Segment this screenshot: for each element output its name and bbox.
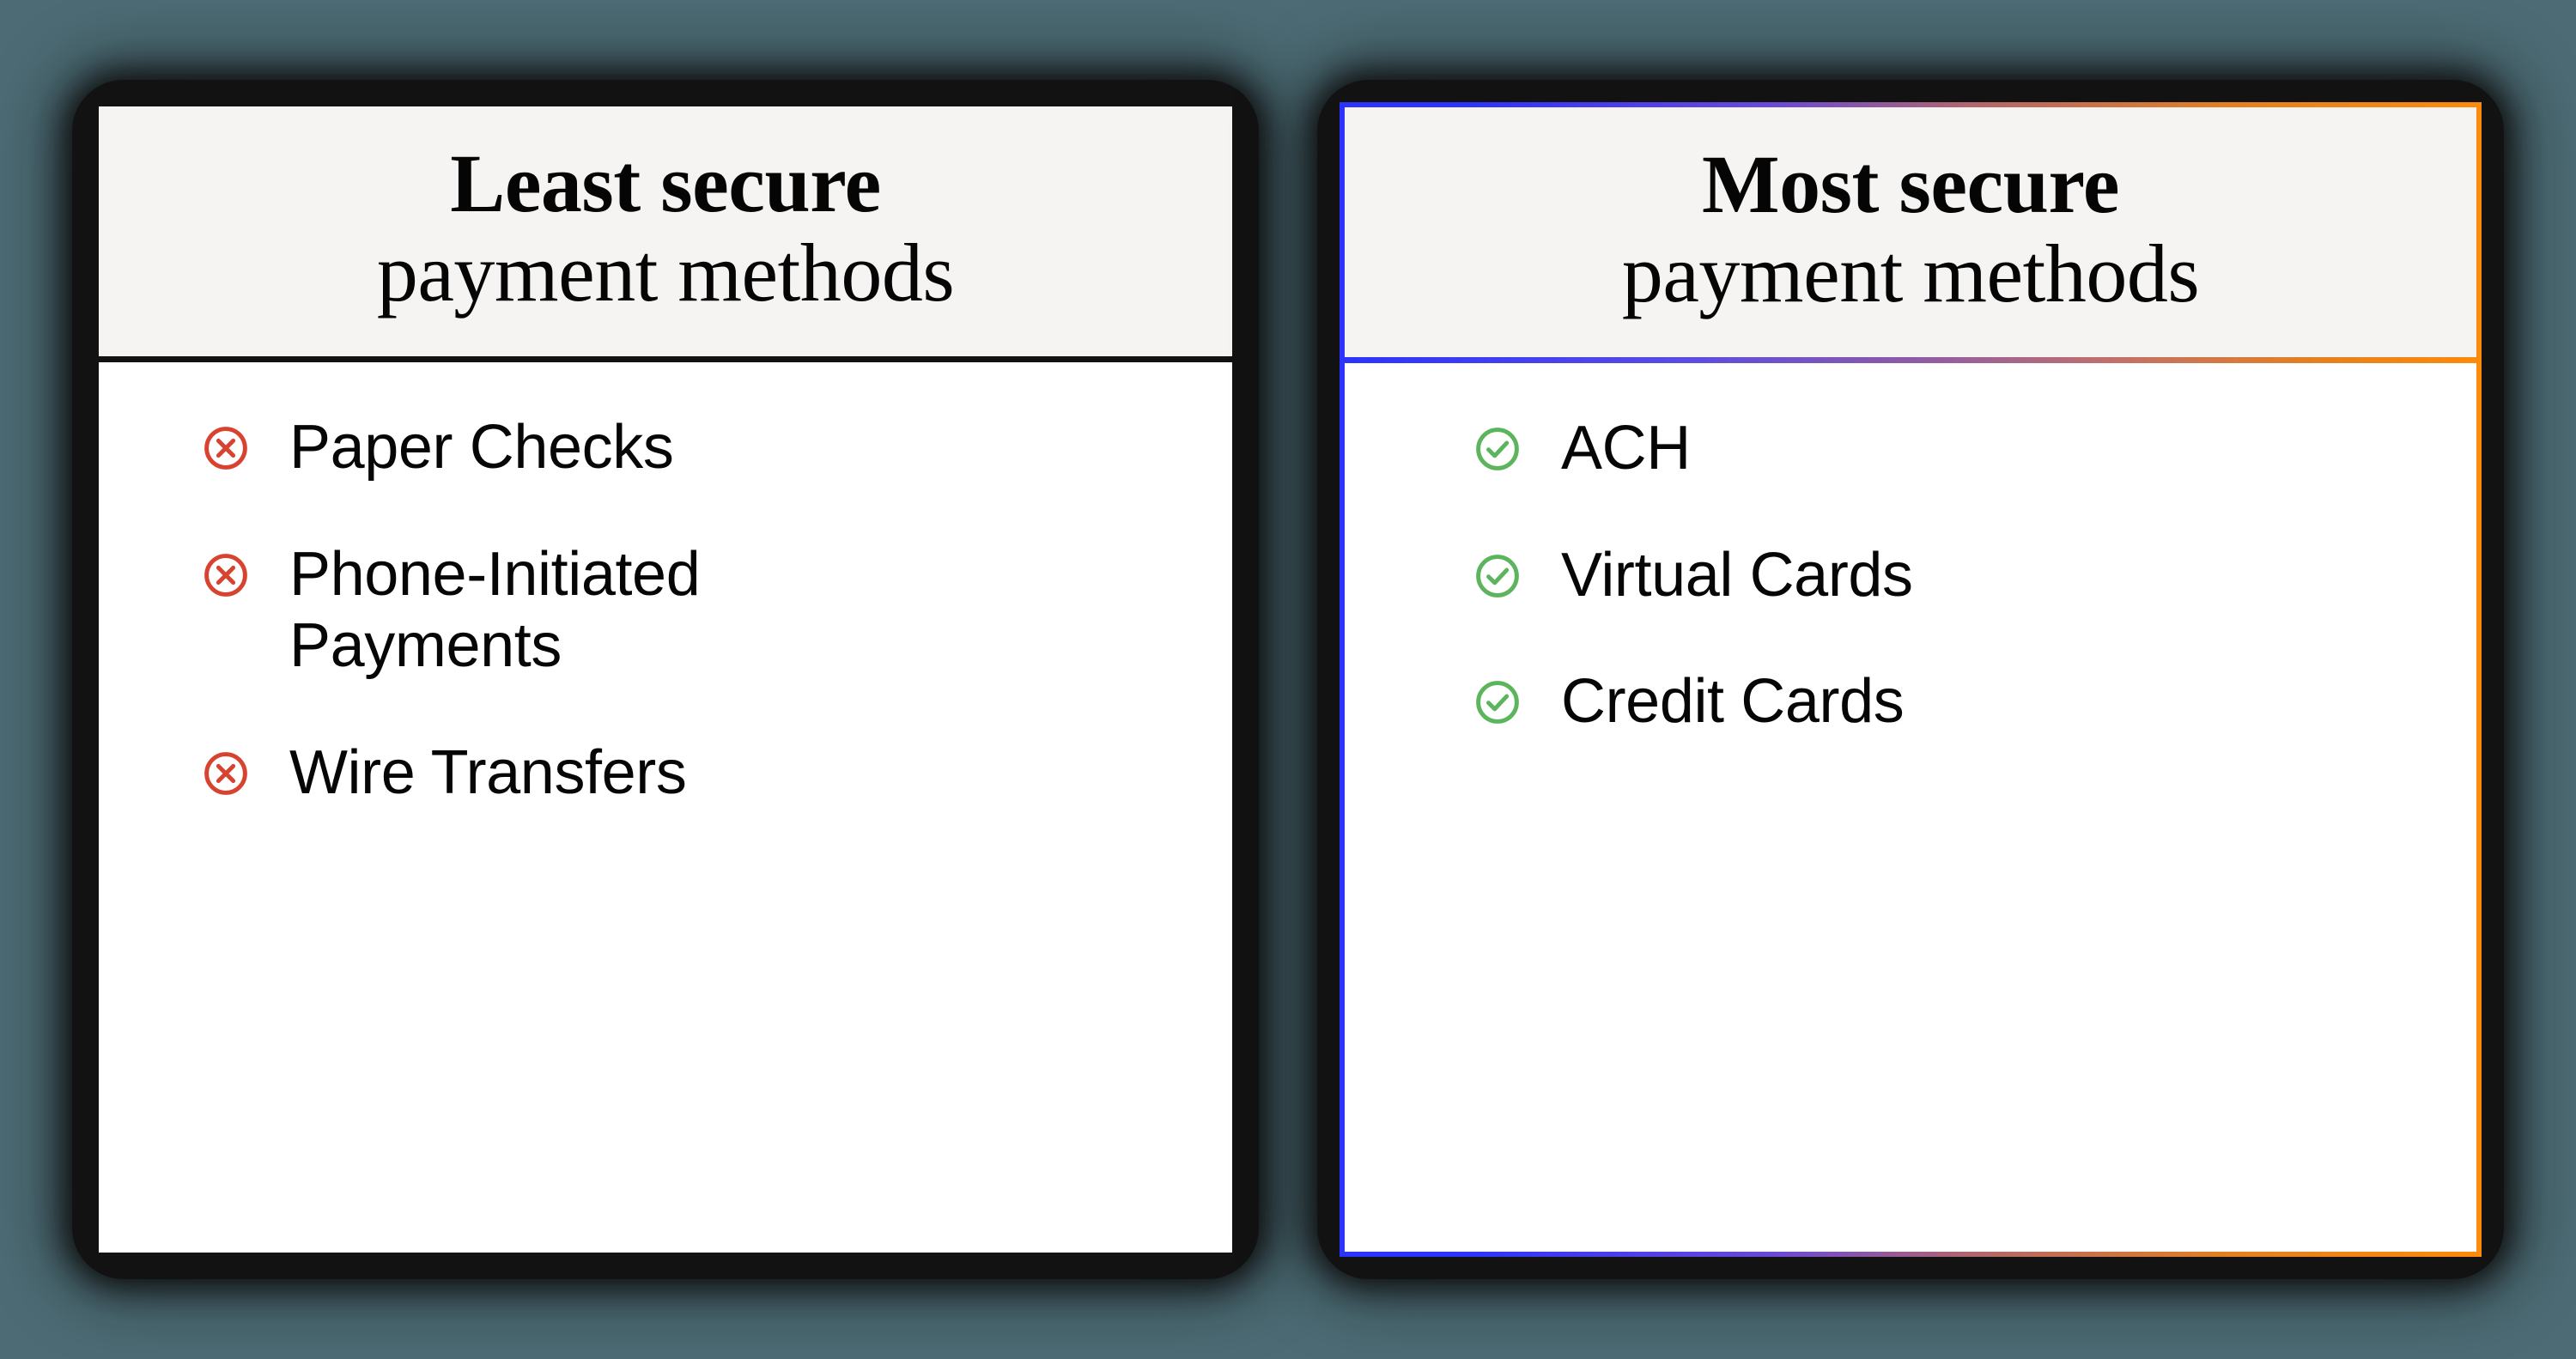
card-least-secure: Least secure payment methods Paper Check…	[94, 102, 1236, 1257]
x-circle-icon	[202, 749, 250, 798]
card-least-secure-body: Paper Checks Phone-Initiated Payments	[99, 362, 1232, 1253]
card-least-secure-inner: Least secure payment methods Paper Check…	[94, 102, 1236, 1257]
list-item: Wire Transfers	[202, 737, 1172, 810]
list-item-label: Phone-Initiated Payments	[289, 539, 942, 683]
card-most-secure-inner: Most secure payment methods ACH	[1340, 102, 2482, 1257]
check-circle-icon	[1473, 678, 1522, 726]
list-item: ACH	[1473, 413, 2416, 485]
card-most-secure-divider	[1345, 357, 2476, 363]
card-least-secure-header: Least secure payment methods	[99, 106, 1232, 356]
x-circle-icon	[202, 424, 250, 472]
list-item: Phone-Initiated Payments	[202, 539, 1172, 683]
card-least-secure-title-soft: payment methods	[125, 228, 1206, 318]
card-most-secure-body: ACH Virtual Cards	[1345, 363, 2476, 1252]
card-least-secure-divider	[99, 356, 1232, 362]
comparison-stage: Least secure payment methods Paper Check…	[0, 0, 2576, 1359]
check-circle-icon	[1473, 552, 1522, 600]
list-item: Virtual Cards	[1473, 540, 2416, 612]
card-most-secure-title-strong: Most secure	[1370, 140, 2451, 229]
list-item-label: ACH	[1561, 413, 1691, 485]
card-most-secure-header: Most secure payment methods	[1345, 107, 2476, 357]
list-item-label: Paper Checks	[289, 412, 673, 484]
list-item: Credit Cards	[1473, 666, 2416, 738]
card-least-secure-title-strong: Least secure	[125, 139, 1206, 228]
check-circle-icon	[1473, 425, 1522, 473]
list-item-label: Wire Transfers	[289, 737, 686, 810]
list-item-label: Credit Cards	[1561, 666, 1904, 738]
x-circle-icon	[202, 551, 250, 599]
card-most-secure: Most secure payment methods ACH	[1340, 102, 2482, 1257]
list-item: Paper Checks	[202, 412, 1172, 484]
card-most-secure-title-soft: payment methods	[1370, 229, 2451, 319]
list-item-label: Virtual Cards	[1561, 540, 1913, 612]
